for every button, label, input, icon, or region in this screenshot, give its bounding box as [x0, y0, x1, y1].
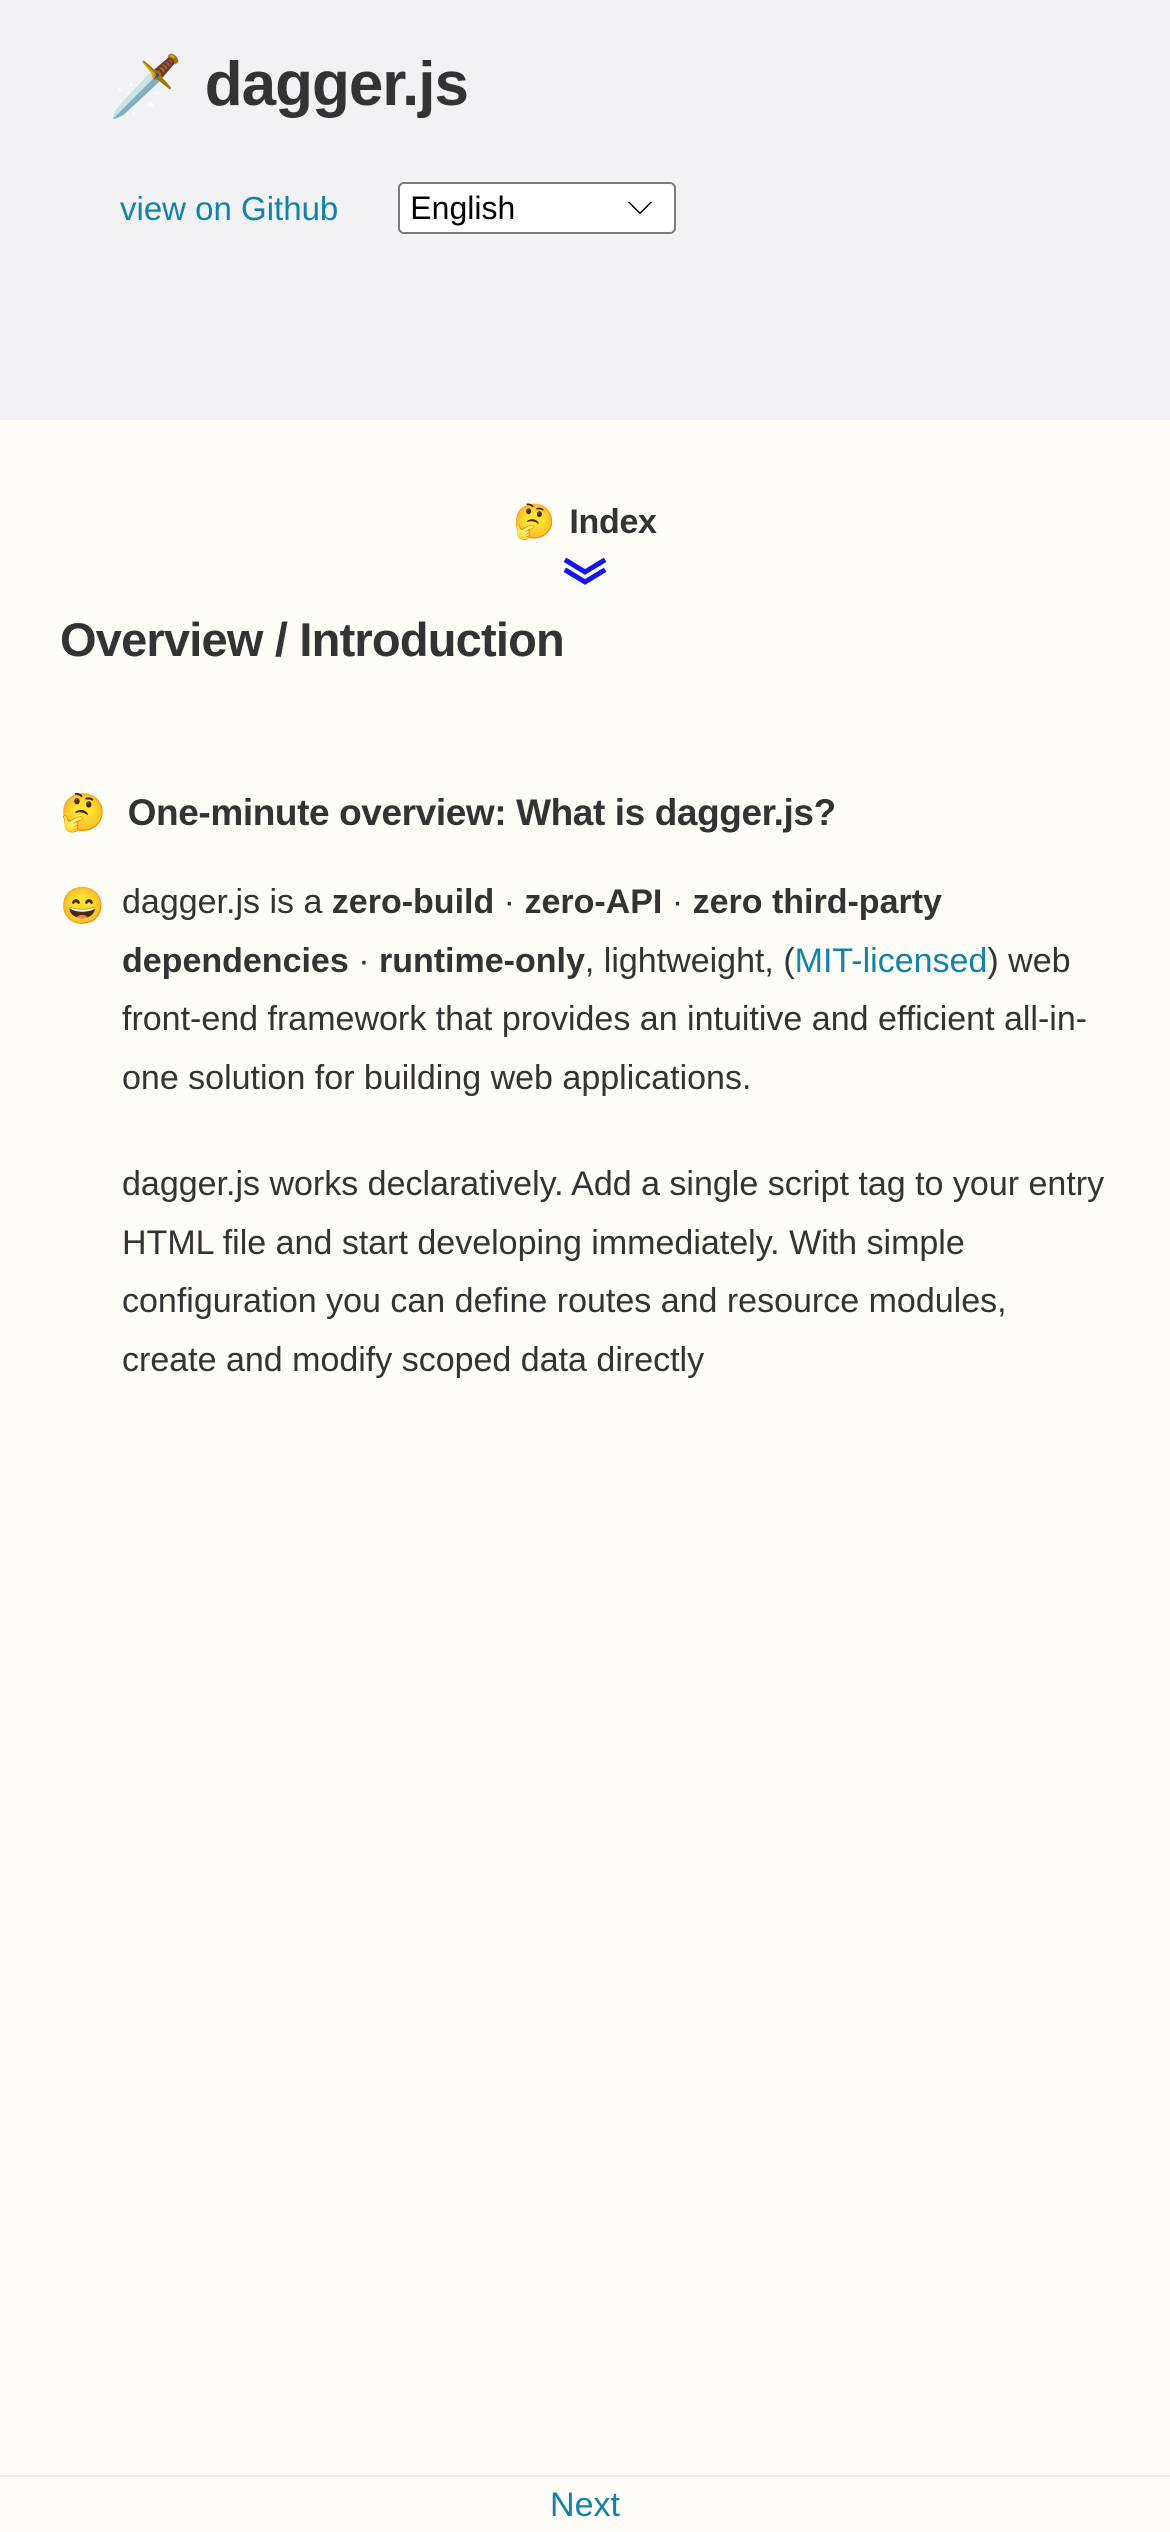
paragraph-text-part2: , lightweight, ( — [585, 942, 795, 980]
language-select[interactable]: English — [398, 182, 676, 234]
separator-1: · — [494, 883, 524, 921]
dagger-icon: 🗡️ — [108, 57, 183, 117]
thinking-face-icon: 🤔 — [513, 503, 555, 541]
paragraph-text-part1: dagger.js is a — [122, 883, 332, 921]
view-on-github-link[interactable]: view on Github — [120, 192, 338, 225]
double-chevron-down-icon[interactable] — [563, 557, 607, 587]
separator-2: · — [662, 883, 692, 921]
site-title: dagger.js — [205, 54, 468, 116]
header-nav: view on Github English — [0, 182, 1170, 234]
next-link[interactable]: Next — [550, 2488, 620, 2522]
grinning-face-icon: 😄 — [60, 875, 105, 937]
intro-paragraph: 😄dagger.js is a zero-build · zero-API · … — [60, 873, 1110, 1107]
declarative-paragraph: dagger.js works declaratively. Add a sin… — [60, 1155, 1110, 1389]
brand: 🗡️ dagger.js — [0, 0, 1170, 148]
index-heading[interactable]: 🤔Index — [60, 420, 1110, 543]
site-header: 🗡️ dagger.js view on Github English — [0, 0, 1170, 420]
site-footer: Next — [0, 2475, 1170, 2532]
highlight-runtime-only: runtime-only — [379, 942, 585, 980]
mit-license-link[interactable]: MIT-licensed — [795, 942, 988, 980]
highlight-zero-build: zero-build — [332, 883, 494, 921]
section-heading-text: One-minute overview: What is dagger.js? — [128, 792, 836, 833]
highlight-zero-api: zero-API — [524, 883, 662, 921]
section-heading: 🤔One-minute overview: What is dagger.js? — [60, 787, 1110, 840]
main-content: 🤔Index Overview / Introduction 🤔One-minu… — [0, 420, 1170, 2475]
thinking-face-icon: 🤔 — [60, 792, 106, 833]
index-label: Index — [569, 503, 656, 541]
separator-3: · — [349, 942, 379, 980]
page-title: Overview / Introduction — [60, 613, 1110, 667]
index-toggle[interactable] — [60, 557, 1110, 587]
